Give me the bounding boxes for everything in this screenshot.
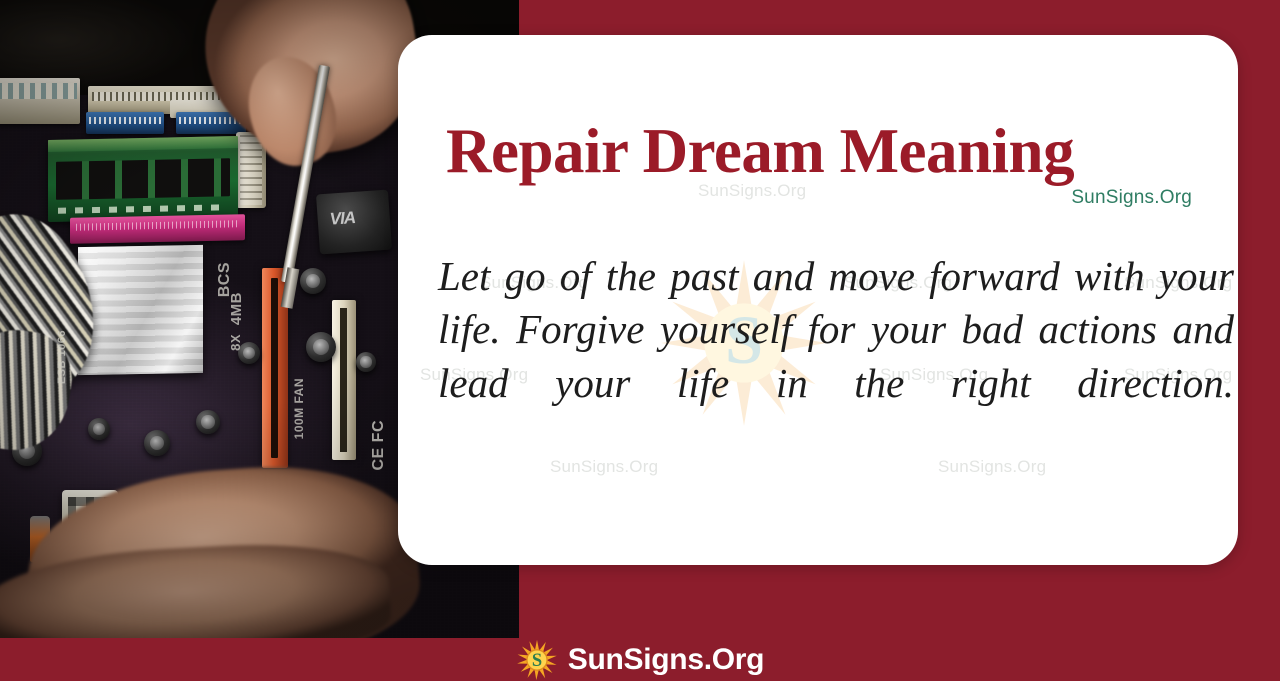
silkscreen-agp: 8X: [228, 334, 243, 351]
dimm-slot-cream: [332, 300, 356, 460]
capacitor: [300, 268, 326, 294]
chipset-heatsink: [78, 245, 203, 375]
capacitor: [196, 410, 220, 434]
silkscreen-esb: ESB 1066: [56, 330, 68, 384]
memory-module: [48, 136, 238, 222]
footer-brand-label: SunSigns.Org: [568, 643, 764, 677]
connector-white-top: [0, 78, 80, 124]
silkscreen-fan: 100M FAN: [292, 378, 306, 439]
slot-contacts: [76, 220, 239, 230]
dream-meaning-body: Let go of the past and move forward with…: [438, 250, 1234, 463]
via-chip-label: VIA: [329, 208, 356, 230]
sun-logo-letter: S: [532, 649, 542, 669]
content-card: S SunSigns.Org SunSigns.Org SunSigns.Org…: [398, 35, 1238, 565]
connector-pins: [0, 83, 77, 99]
poster-canvas: VIA ESB 1066 BCS 4MB 8X 100M FAN CE FC: [0, 0, 1280, 681]
silkscreen-ce: CE FC: [370, 420, 388, 471]
expansion-slot-pink: [70, 214, 245, 244]
page-title: Repair Dream Meaning: [446, 119, 1226, 183]
sun-logo-icon: S: [516, 639, 558, 681]
capacitor: [306, 332, 336, 362]
capacitor: [356, 352, 376, 372]
slot-groove: [271, 278, 278, 458]
memory-edge: [48, 136, 238, 152]
memory-chips: [56, 158, 230, 200]
connector-ridges: [240, 135, 262, 205]
title-row: Repair Dream Meaning SunSigns.Org: [446, 119, 1226, 183]
slot-groove: [340, 308, 347, 452]
memory-label: [58, 204, 228, 214]
title-brand-label: SunSigns.Org: [1071, 187, 1192, 209]
via-chipset: VIA: [316, 190, 392, 255]
capacitor: [88, 418, 110, 440]
connector-blue-left: [86, 112, 164, 134]
silkscreen-mb: 4MB: [228, 292, 245, 325]
capacitor: [144, 430, 170, 456]
footer: S SunSigns.Org: [0, 638, 1280, 681]
connector-pins: [89, 117, 161, 124]
heatsink-fins: [78, 245, 203, 375]
